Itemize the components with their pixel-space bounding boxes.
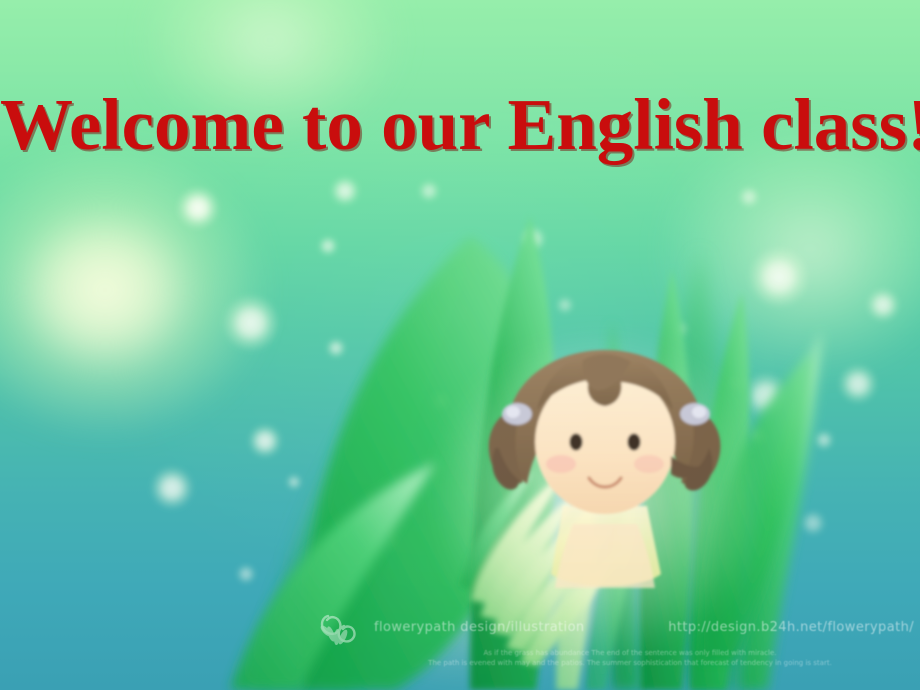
watermark-main-row: flowerypath design/illustration http://d… (318, 606, 918, 648)
grass-blade-right-d (605, 320, 640, 690)
bokeh-dot (748, 246, 810, 308)
bokeh-dot (418, 180, 440, 202)
page-title: Welcome to our English class! (0, 88, 920, 161)
grass-blade-right-c (740, 330, 822, 690)
bokeh-dot (430, 390, 452, 412)
bokeh-dot (330, 176, 360, 206)
girl-pigtail-right (681, 412, 720, 485)
grass-blades-background (250, 250, 745, 690)
bokeh-dot (326, 338, 346, 358)
grass-blade-large-left (300, 236, 542, 690)
girl-glow-halo (430, 330, 770, 660)
bokeh-dot (672, 320, 690, 338)
watermark-subtext-line1: As if the grass has abundance The end of… (370, 648, 890, 658)
light-glow-large-left (0, 140, 270, 440)
grass-bundle-front (460, 470, 626, 666)
bokeh-dot (640, 400, 664, 424)
watermark-text-row: flowerypath design/illustration http://d… (374, 620, 914, 635)
girl-blush-right (634, 455, 664, 473)
bokeh-dot (556, 296, 574, 314)
watermark-subtext-line2: The path is evened with may and the pati… (370, 658, 890, 668)
girl-hair-tie-right-highlight (692, 406, 706, 418)
bokeh-dot (742, 372, 790, 420)
girl-pigtail-right-tip (685, 448, 713, 491)
girl-hair-lock (583, 354, 632, 390)
girl-mouth (589, 478, 621, 487)
girl-pigtail-left-tip (492, 448, 519, 490)
girl-hair-tie-left-highlight (506, 406, 520, 418)
grass-blade-lower-left (230, 462, 436, 690)
girl-eye-left (570, 434, 583, 451)
bokeh-dot (700, 560, 718, 578)
girl-dress (551, 506, 661, 586)
girl-hair-tie-left (502, 403, 532, 425)
girl-hair-strand-right (671, 456, 701, 478)
bokeh-dot (814, 430, 834, 450)
bokeh-dot (318, 236, 338, 256)
bokeh-dot (750, 428, 768, 446)
grass-blade-right-b (690, 292, 750, 690)
watermark-url: http://design.b24h.net/flowerypath/ (668, 620, 914, 635)
girl-face (535, 370, 675, 514)
watermark-brand: flowerypath design/illustration (374, 620, 585, 635)
girl-illustration (455, 338, 755, 638)
girl-pigtail-left (489, 412, 523, 484)
bokeh-dot (286, 474, 302, 490)
bokeh-dot (370, 524, 404, 558)
presentation-slide: Welcome to our English class! (0, 0, 920, 690)
bokeh-dot (248, 424, 282, 458)
bokeh-dot (222, 294, 280, 352)
girl-hair-back (507, 350, 703, 484)
girl-torso (555, 524, 655, 588)
bokeh-dot (838, 364, 878, 404)
girl-blush-left (546, 455, 576, 473)
watermark: flowerypath design/illustration http://d… (318, 606, 918, 676)
bokeh-dot (176, 186, 220, 230)
girl-eye-right (628, 434, 641, 451)
bokeh-dot (236, 564, 256, 584)
grass-blade-right-sweep (700, 352, 812, 660)
flowery-spiral-logo-icon (318, 606, 366, 648)
bokeh-dot (800, 510, 826, 536)
bokeh-dot (738, 186, 760, 208)
bokeh-dot (724, 372, 746, 394)
light-glow-center-bottom (300, 430, 630, 690)
bokeh-dot (866, 288, 900, 322)
girl-hair-fringe (537, 354, 673, 410)
bokeh-dot (150, 466, 194, 510)
bokeh-dot (520, 226, 546, 252)
grass-blade-tall-center (470, 216, 556, 690)
girl-hair-tie-right (680, 403, 710, 425)
grass-blade-right-a (639, 268, 692, 690)
grass-strands-center (556, 492, 634, 690)
